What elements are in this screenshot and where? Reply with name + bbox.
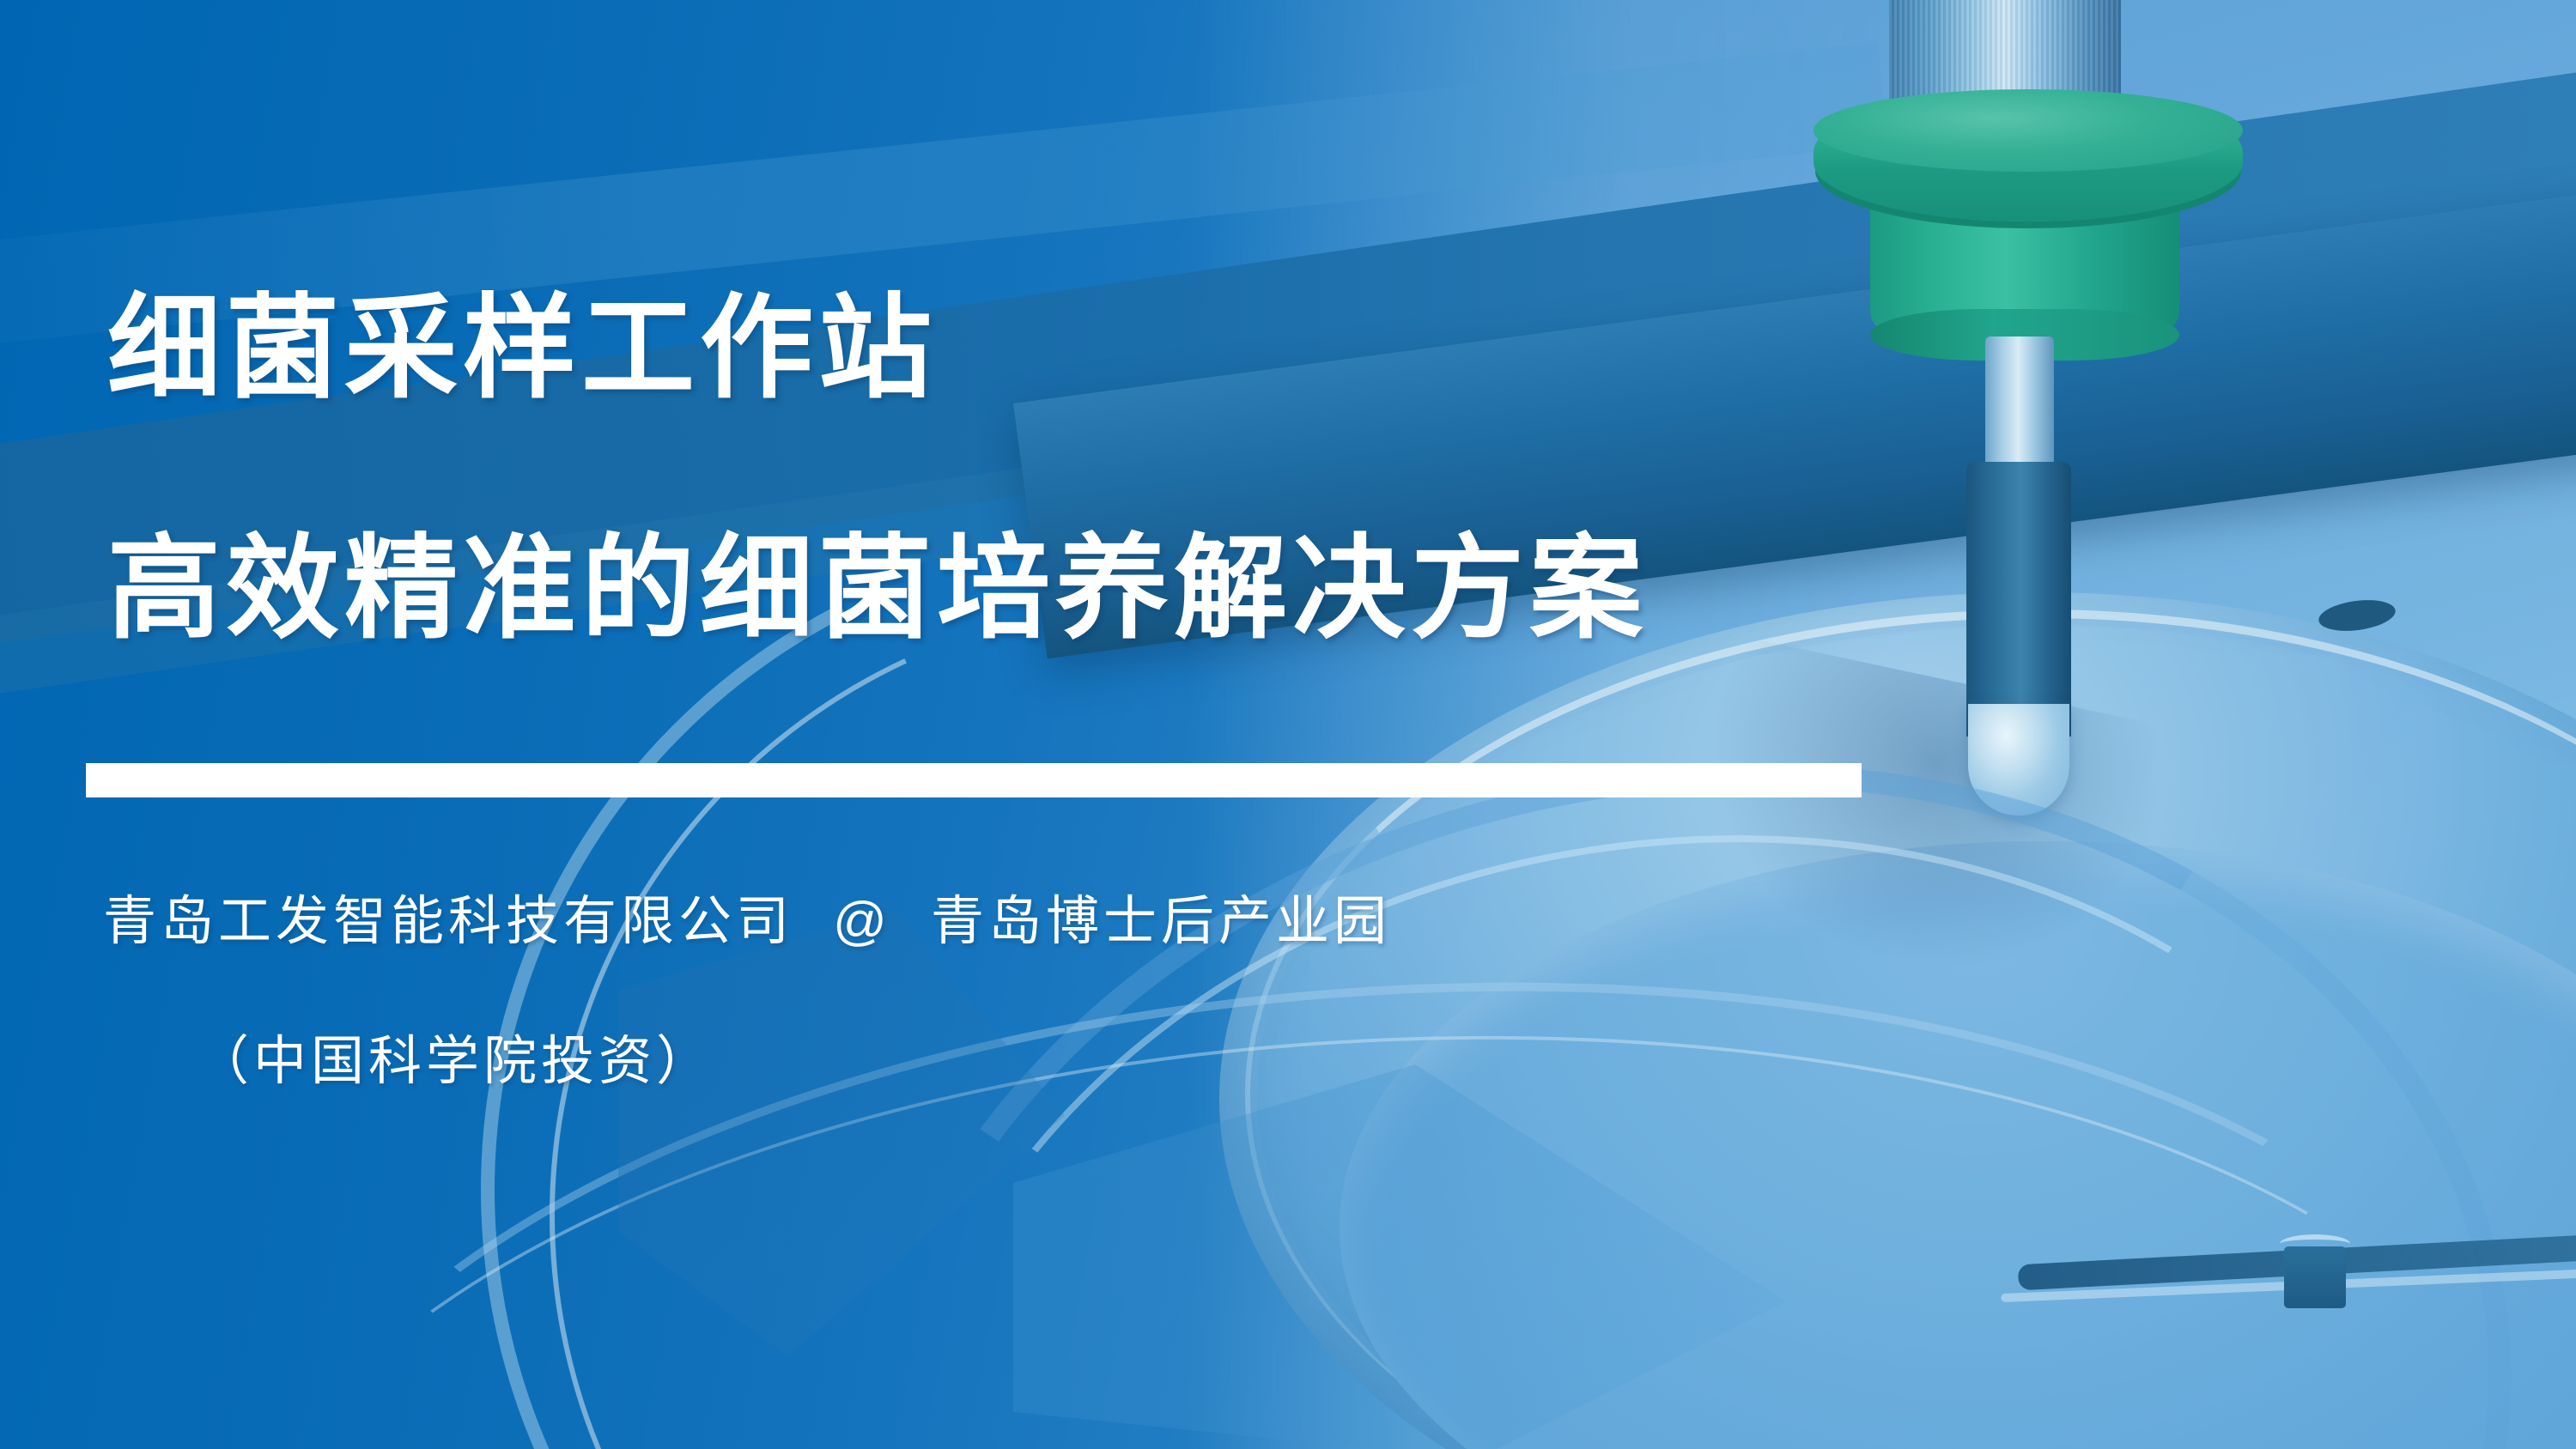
presentation-title-slide: 细菌采样工作站 高效精准的细菌培养解决方案 青岛工发智能科技有限公司@青岛博士后… — [0, 0, 2576, 1449]
title-divider-bar — [86, 763, 1862, 797]
slide-title-secondary: 高效精准的细菌培养解决方案 — [107, 532, 1648, 646]
investor-note: （中国科学院投资） — [196, 1017, 714, 1094]
organization-line: 青岛工发智能科技有限公司@青岛博士后产业园 — [103, 877, 1391, 955]
slide-title-primary: 细菌采样工作站 — [107, 292, 937, 405]
slide-content: 细菌采样工作站 高效精准的细菌培养解决方案 青岛工发智能科技有限公司@青岛博士后… — [0, 0, 2576, 1449]
at-symbol: @ — [793, 892, 931, 951]
venue-name: 青岛博士后产业园 — [931, 892, 1391, 951]
company-name: 青岛工发智能科技有限公司 — [103, 892, 793, 951]
